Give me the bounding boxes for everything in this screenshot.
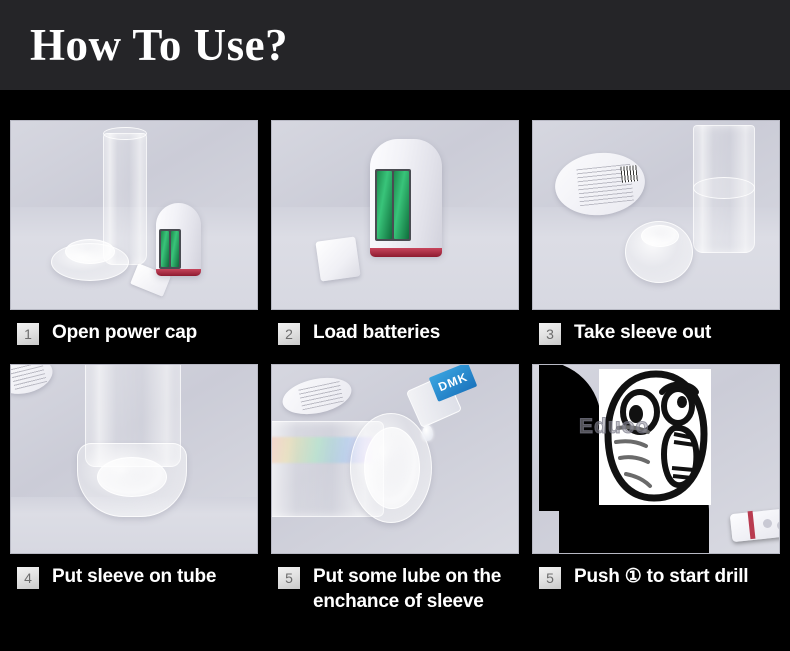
rage-face-icon <box>600 370 710 504</box>
sleeve-inner-detail <box>97 457 167 497</box>
step-number-badge: 5 <box>278 567 300 589</box>
step-label: Put sleeve on tube <box>52 564 216 589</box>
step-card-6[interactable]: Eduoo 5 Push ① to start drill <box>527 364 785 614</box>
step-label: Take sleeve out <box>574 320 711 345</box>
step-caption-2: 2 Load batteries <box>266 310 524 364</box>
step-card-3[interactable]: 3 Take sleeve out <box>527 120 785 364</box>
step-number-badge: 2 <box>278 323 300 345</box>
steps-row-2: 4 Put sleeve on tube DMK 5 Put s <box>5 364 785 614</box>
step-number-badge: 1 <box>17 323 39 345</box>
step-photo-3 <box>532 120 780 310</box>
page-header: How To Use? <box>0 0 790 90</box>
step-photo-5: DMK <box>271 364 519 554</box>
battery-cell <box>377 171 392 239</box>
battery-cell <box>171 231 179 267</box>
battery-door <box>315 236 360 281</box>
step-photo-6: Eduoo <box>532 364 780 554</box>
tube-rim <box>693 177 755 199</box>
step-caption-6: 5 Push ① to start drill <box>527 554 785 608</box>
meme-face-box <box>599 369 711 505</box>
battery-window <box>159 229 181 269</box>
step-card-4[interactable]: 4 Put sleeve on tube <box>5 364 263 614</box>
remote-button <box>763 519 772 528</box>
step-number-badge: 5 <box>539 567 561 589</box>
step-label: Put some lube on the enchance of sleeve <box>313 564 520 614</box>
steps-row-1: 1 Open power cap 2 Load batteries <box>5 120 785 364</box>
step-card-1[interactable]: 1 Open power cap <box>5 120 263 364</box>
sleeve-opening <box>364 427 420 509</box>
step-caption-4: 4 Put sleeve on tube <box>5 554 263 608</box>
remote-button <box>777 521 780 530</box>
steps-grid: 1 Open power cap 2 Load batteries <box>0 90 790 614</box>
step-label: Push ① to start drill <box>574 564 748 589</box>
leaflet-barcode <box>620 165 638 183</box>
leaflet-text-lines <box>10 364 47 390</box>
step-label: Load batteries <box>313 320 440 345</box>
battery-cell <box>161 231 169 267</box>
base-inner-ring <box>65 239 115 264</box>
cap-red-ring <box>156 269 201 276</box>
step-number-badge: 4 <box>17 567 39 589</box>
step-photo-2 <box>271 120 519 310</box>
sleeve-opening <box>641 225 679 247</box>
step-caption-1: 1 Open power cap <box>5 310 263 364</box>
step-caption-5: 5 Put some lube on the enchance of sleev… <box>266 554 524 614</box>
step-caption-3: 3 Take sleeve out <box>527 310 785 364</box>
battery-window <box>375 169 411 241</box>
step-photo-4 <box>10 364 258 554</box>
cap-red-ring <box>370 248 442 257</box>
step-label: Open power cap <box>52 320 197 345</box>
step-photo-1 <box>10 120 258 310</box>
leaflet-text-lines <box>299 381 344 410</box>
battery-cell <box>394 171 409 239</box>
step-card-2[interactable]: 2 Load batteries <box>266 120 524 364</box>
step-number-badge: 3 <box>539 323 561 345</box>
page-title: How To Use? <box>30 23 288 68</box>
tube-rim <box>103 127 147 140</box>
step-card-5[interactable]: DMK 5 Put some lube on the enchance of s… <box>266 364 524 614</box>
lube-drop <box>422 425 433 441</box>
